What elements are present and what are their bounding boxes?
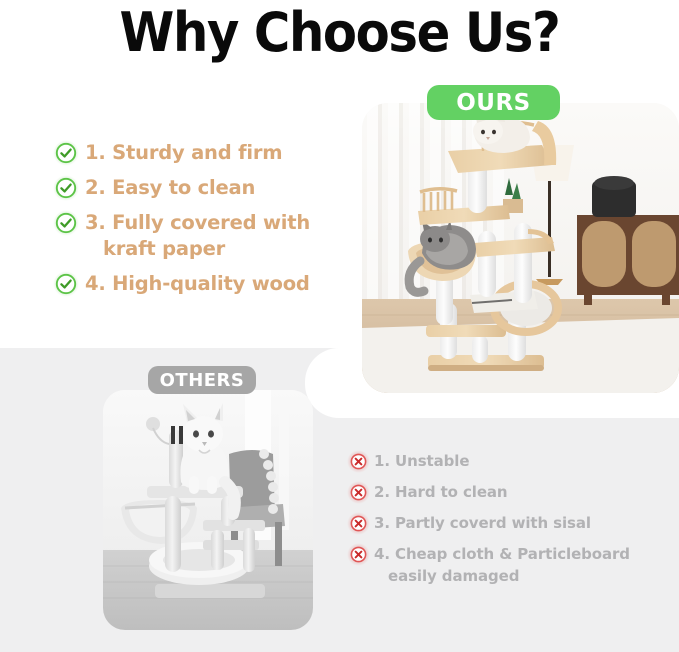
list-item: 3. Partly coverd with sisal: [350, 512, 670, 534]
others-product-photo: [103, 390, 313, 630]
others-feature-list: 1. Unstable 2. Hard to clean: [350, 450, 670, 587]
list-item-label: 4. High-quality wood: [85, 271, 310, 297]
green-check-circle-icon: [55, 273, 77, 295]
red-x-circle-icon: [350, 453, 367, 470]
green-check-circle-icon: [55, 177, 77, 199]
list-item-label: 3. Fully covered with kraft paper: [85, 210, 310, 262]
list-item: 4. High-quality wood: [55, 271, 365, 297]
ours-badge: OURS: [427, 85, 560, 120]
list-item: 2. Hard to clean: [350, 481, 670, 503]
list-item: 1. Sturdy and firm: [55, 140, 365, 166]
ours-product-photo: [362, 103, 679, 393]
list-item: 1. Unstable: [350, 450, 670, 472]
red-x-circle-icon: [350, 546, 367, 563]
list-item-label: 2. Hard to clean: [374, 481, 508, 503]
green-check-circle-icon: [55, 212, 77, 234]
list-item-label: 3. Partly coverd with sisal: [374, 512, 591, 534]
red-x-circle-icon: [350, 484, 367, 501]
red-x-circle-icon: [350, 515, 367, 532]
green-check-circle-icon: [55, 142, 77, 164]
comparison-infographic: Why Choose Us? 1. Sturdy and firm: [0, 0, 679, 652]
ours-feature-list: 1. Sturdy and firm 2. Easy to clean: [55, 140, 365, 297]
list-item-label: 1. Sturdy and firm: [85, 140, 282, 166]
others-badge: OTHERS: [148, 366, 256, 394]
list-item: 4. Cheap cloth & Particleboard easily da…: [350, 543, 670, 587]
list-item-label: 2. Easy to clean: [85, 175, 255, 201]
page-title: Why Choose Us?: [27, 2, 652, 64]
list-item: 3. Fully covered with kraft paper: [55, 210, 365, 262]
list-item-label: 4. Cheap cloth & Particleboard easily da…: [374, 543, 630, 587]
list-item: 2. Easy to clean: [55, 175, 365, 201]
list-item-label: 1. Unstable: [374, 450, 469, 472]
